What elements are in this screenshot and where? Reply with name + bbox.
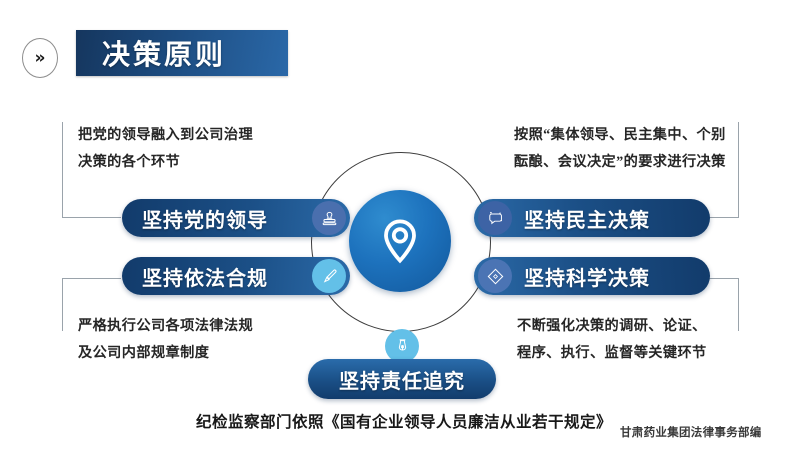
footer-credit: 甘肃药业集团法律事务部编: [620, 424, 762, 440]
description-top-left: 把党的领导融入到公司治理 决策的各个环节: [78, 122, 253, 176]
page-title: 决策原则: [102, 33, 226, 73]
description-line: 及公司内部规章制度: [78, 340, 253, 367]
speech-discussion-icon: [478, 201, 512, 235]
principle-label: 坚持依法合规: [142, 262, 268, 291]
principle-label: 坚持责任追究: [339, 365, 465, 394]
diamond-gem-icon: [478, 259, 512, 293]
principle-pill-accountability[interactable]: 坚持责任追究: [308, 359, 496, 399]
description-line: 酝酿、会议决定”的要求进行决策: [514, 149, 726, 176]
description-bottom-left: 严格执行公司各项法律法规 及公司内部规章制度: [78, 313, 253, 367]
principle-label: 坚持民主决策: [524, 204, 650, 233]
center-hub: [349, 190, 451, 292]
double-chevron-right-icon: »: [22, 38, 58, 78]
description-line: 不断强化决策的调研、论证、: [517, 313, 707, 340]
slide-canvas: » 决策原则 坚持党的领导 坚持依法合规: [0, 0, 800, 450]
principle-label: 坚持科学决策: [524, 262, 650, 291]
fountain-pen-nib-icon: [385, 329, 419, 363]
principle-label: 坚持党的领导: [142, 204, 268, 233]
brush-pen-icon: [312, 259, 346, 293]
principle-pill-party-leadership[interactable]: 坚持党的领导: [122, 199, 350, 237]
description-line: 把党的领导融入到公司治理: [78, 122, 253, 149]
principle-pill-democratic-decision[interactable]: 坚持民主决策: [474, 199, 710, 237]
description-bottom-right: 不断强化决策的调研、论证、 程序、执行、监督等关键环节: [517, 313, 707, 367]
stamp-seal-icon: [312, 201, 346, 235]
location-pin-icon: [376, 217, 424, 265]
page-title-bar: 决策原则: [76, 30, 288, 76]
description-line: 按照“集体领导、民主集中、个别: [514, 122, 726, 149]
principle-pill-legal-compliance[interactable]: 坚持依法合规: [122, 257, 350, 295]
description-line: 程序、执行、监督等关键环节: [517, 340, 707, 367]
principle-pill-scientific-decision[interactable]: 坚持科学决策: [474, 257, 710, 295]
description-line: 决策的各个环节: [78, 149, 253, 176]
description-line: 严格执行公司各项法律法规: [78, 313, 253, 340]
description-top-right: 按照“集体领导、民主集中、个别 酝酿、会议决定”的要求进行决策: [514, 122, 726, 176]
footer-caption: 纪检监察部门依照《国有企业领导人员廉洁从业若干规定》: [196, 410, 612, 432]
